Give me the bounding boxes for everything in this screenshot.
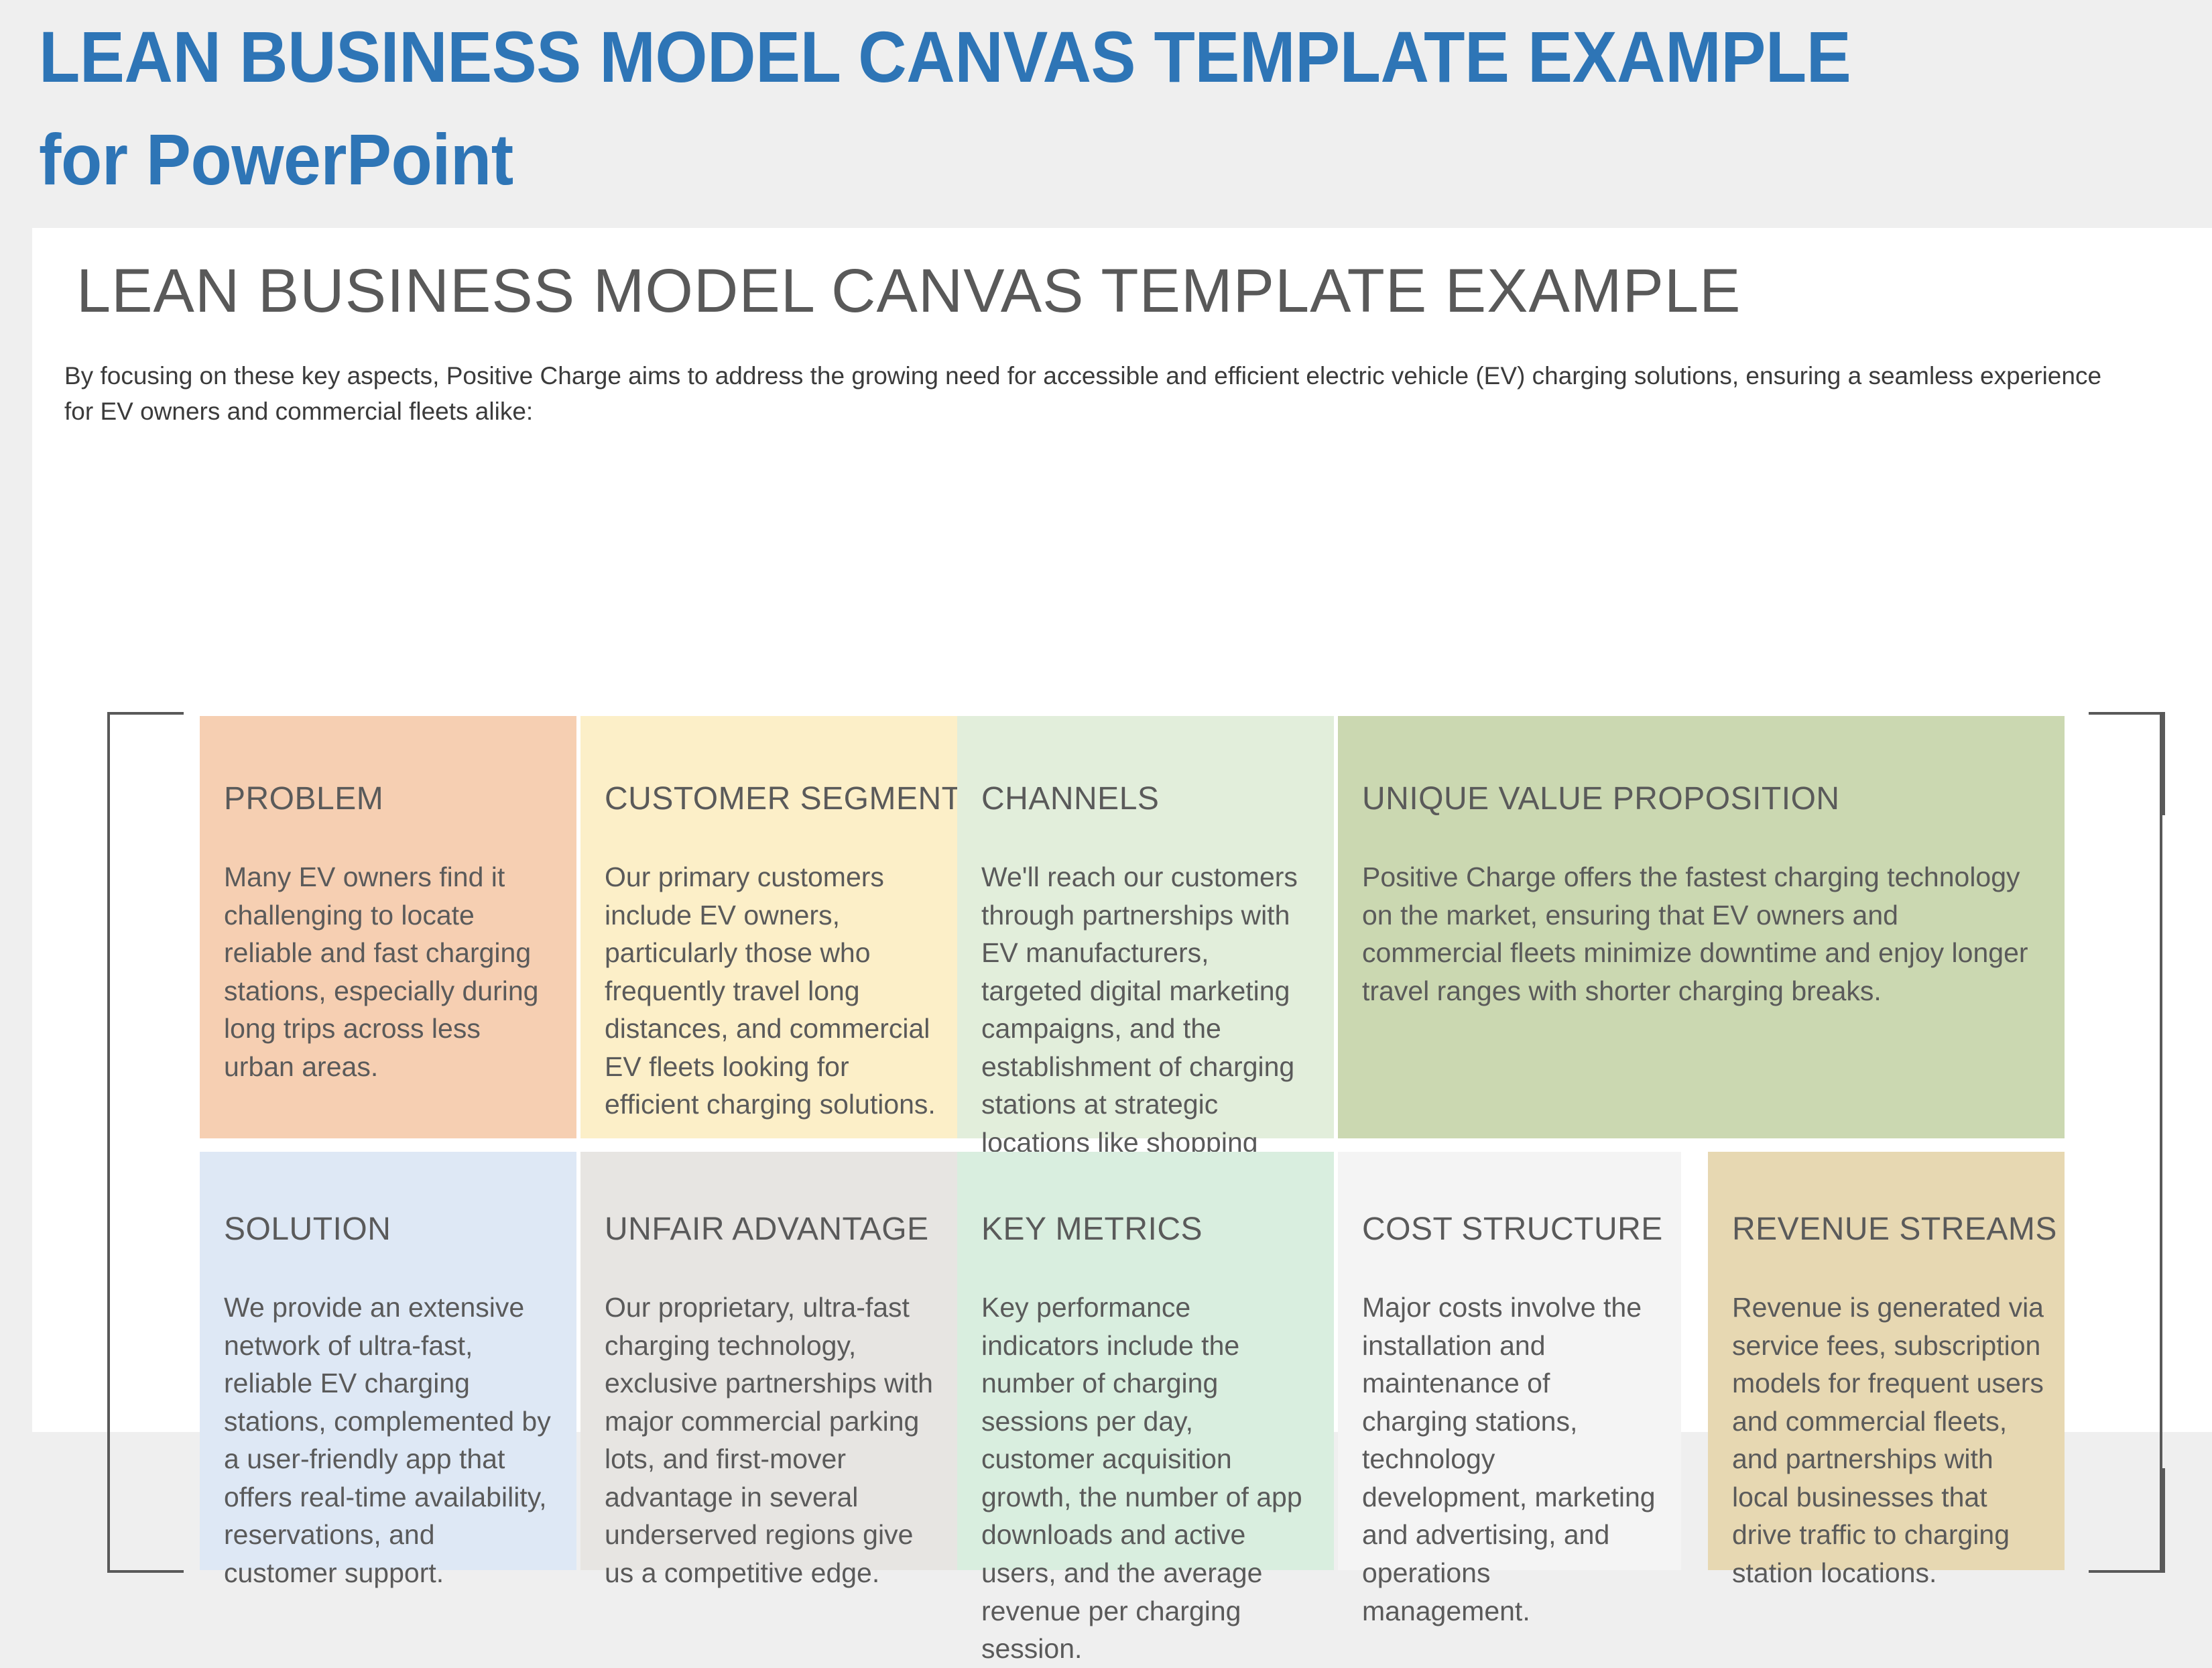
card-key-metrics-title: KEY METRICS bbox=[981, 1211, 1203, 1248]
card-revenue-streams-title: REVENUE STREAMS bbox=[1732, 1211, 2057, 1248]
card-problem-title: PROBLEM bbox=[224, 780, 383, 817]
card-unique-value-proposition-title: UNIQUE VALUE PROPOSITION bbox=[1362, 780, 1840, 817]
page-title: LEAN BUSINESS MODEL CANVAS TEMPLATE EXAM… bbox=[76, 256, 1741, 326]
frame-spine-left bbox=[107, 712, 110, 1570]
card-cost-structure-title: COST STRUCTURE bbox=[1362, 1211, 1663, 1248]
card-cost-structure[interactable]: COST STRUCTURE Major costs involve the i… bbox=[1338, 1152, 1681, 1570]
bracket-top-left bbox=[107, 712, 184, 815]
card-channels-title: CHANNELS bbox=[981, 780, 1159, 817]
card-revenue-streams-body: Revenue is generated via service fees, s… bbox=[1732, 1289, 2046, 1592]
card-customer-segments-body: Our primary customers include EV owners,… bbox=[605, 858, 936, 1124]
card-unfair-advantage[interactable]: UNFAIR ADVANTAGE Our proprietary, ultra-… bbox=[580, 1152, 957, 1570]
bracket-bottom-left bbox=[107, 1468, 184, 1573]
card-problem[interactable]: PROBLEM Many EV owners find it challengi… bbox=[200, 716, 576, 1138]
banner-title: LEAN BUSINESS MODEL CANVAS TEMPLATE EXAM… bbox=[39, 5, 2021, 211]
card-unique-value-proposition[interactable]: UNIQUE VALUE PROPOSITION Positive Charge… bbox=[1338, 716, 2065, 1138]
card-unfair-advantage-title: UNFAIR ADVANTAGE bbox=[605, 1211, 929, 1248]
card-channels[interactable]: CHANNELS We'll reach our customers throu… bbox=[957, 716, 1334, 1138]
card-customer-segments[interactable]: CUSTOMER SEGMENTS Our primary customers … bbox=[580, 716, 957, 1138]
card-solution-body: We provide an extensive network of ultra… bbox=[224, 1289, 555, 1592]
card-key-metrics-body: Key performance indicators include the n… bbox=[981, 1289, 1312, 1668]
card-key-metrics[interactable]: KEY METRICS Key performance indicators i… bbox=[957, 1152, 1334, 1570]
card-unique-value-proposition-body: Positive Charge offers the fastest charg… bbox=[1362, 858, 2039, 1010]
card-solution-title: SOLUTION bbox=[224, 1211, 391, 1248]
card-unfair-advantage-body: Our proprietary, ultra-fast charging tec… bbox=[605, 1289, 936, 1592]
card-revenue-streams[interactable]: REVENUE STREAMS Revenue is generated via… bbox=[1708, 1152, 2065, 1570]
banner: LEAN BUSINESS MODEL CANVAS TEMPLATE EXAM… bbox=[0, 0, 2212, 228]
card-customer-segments-title: CUSTOMER SEGMENTS bbox=[605, 780, 983, 817]
intro-paragraph: By focusing on these key aspects, Positi… bbox=[64, 359, 2102, 429]
card-problem-body: Many EV owners find it challenging to lo… bbox=[224, 858, 555, 1085]
frame-spine-right bbox=[2160, 712, 2162, 1570]
bracket-bottom-right bbox=[2089, 1468, 2165, 1573]
canvas-panel: LEAN BUSINESS MODEL CANVAS TEMPLATE EXAM… bbox=[32, 228, 2212, 1432]
bracket-top-right bbox=[2089, 712, 2165, 815]
card-solution[interactable]: SOLUTION We provide an extensive network… bbox=[200, 1152, 576, 1570]
card-cost-structure-body: Major costs involve the installation and… bbox=[1362, 1289, 1662, 1630]
